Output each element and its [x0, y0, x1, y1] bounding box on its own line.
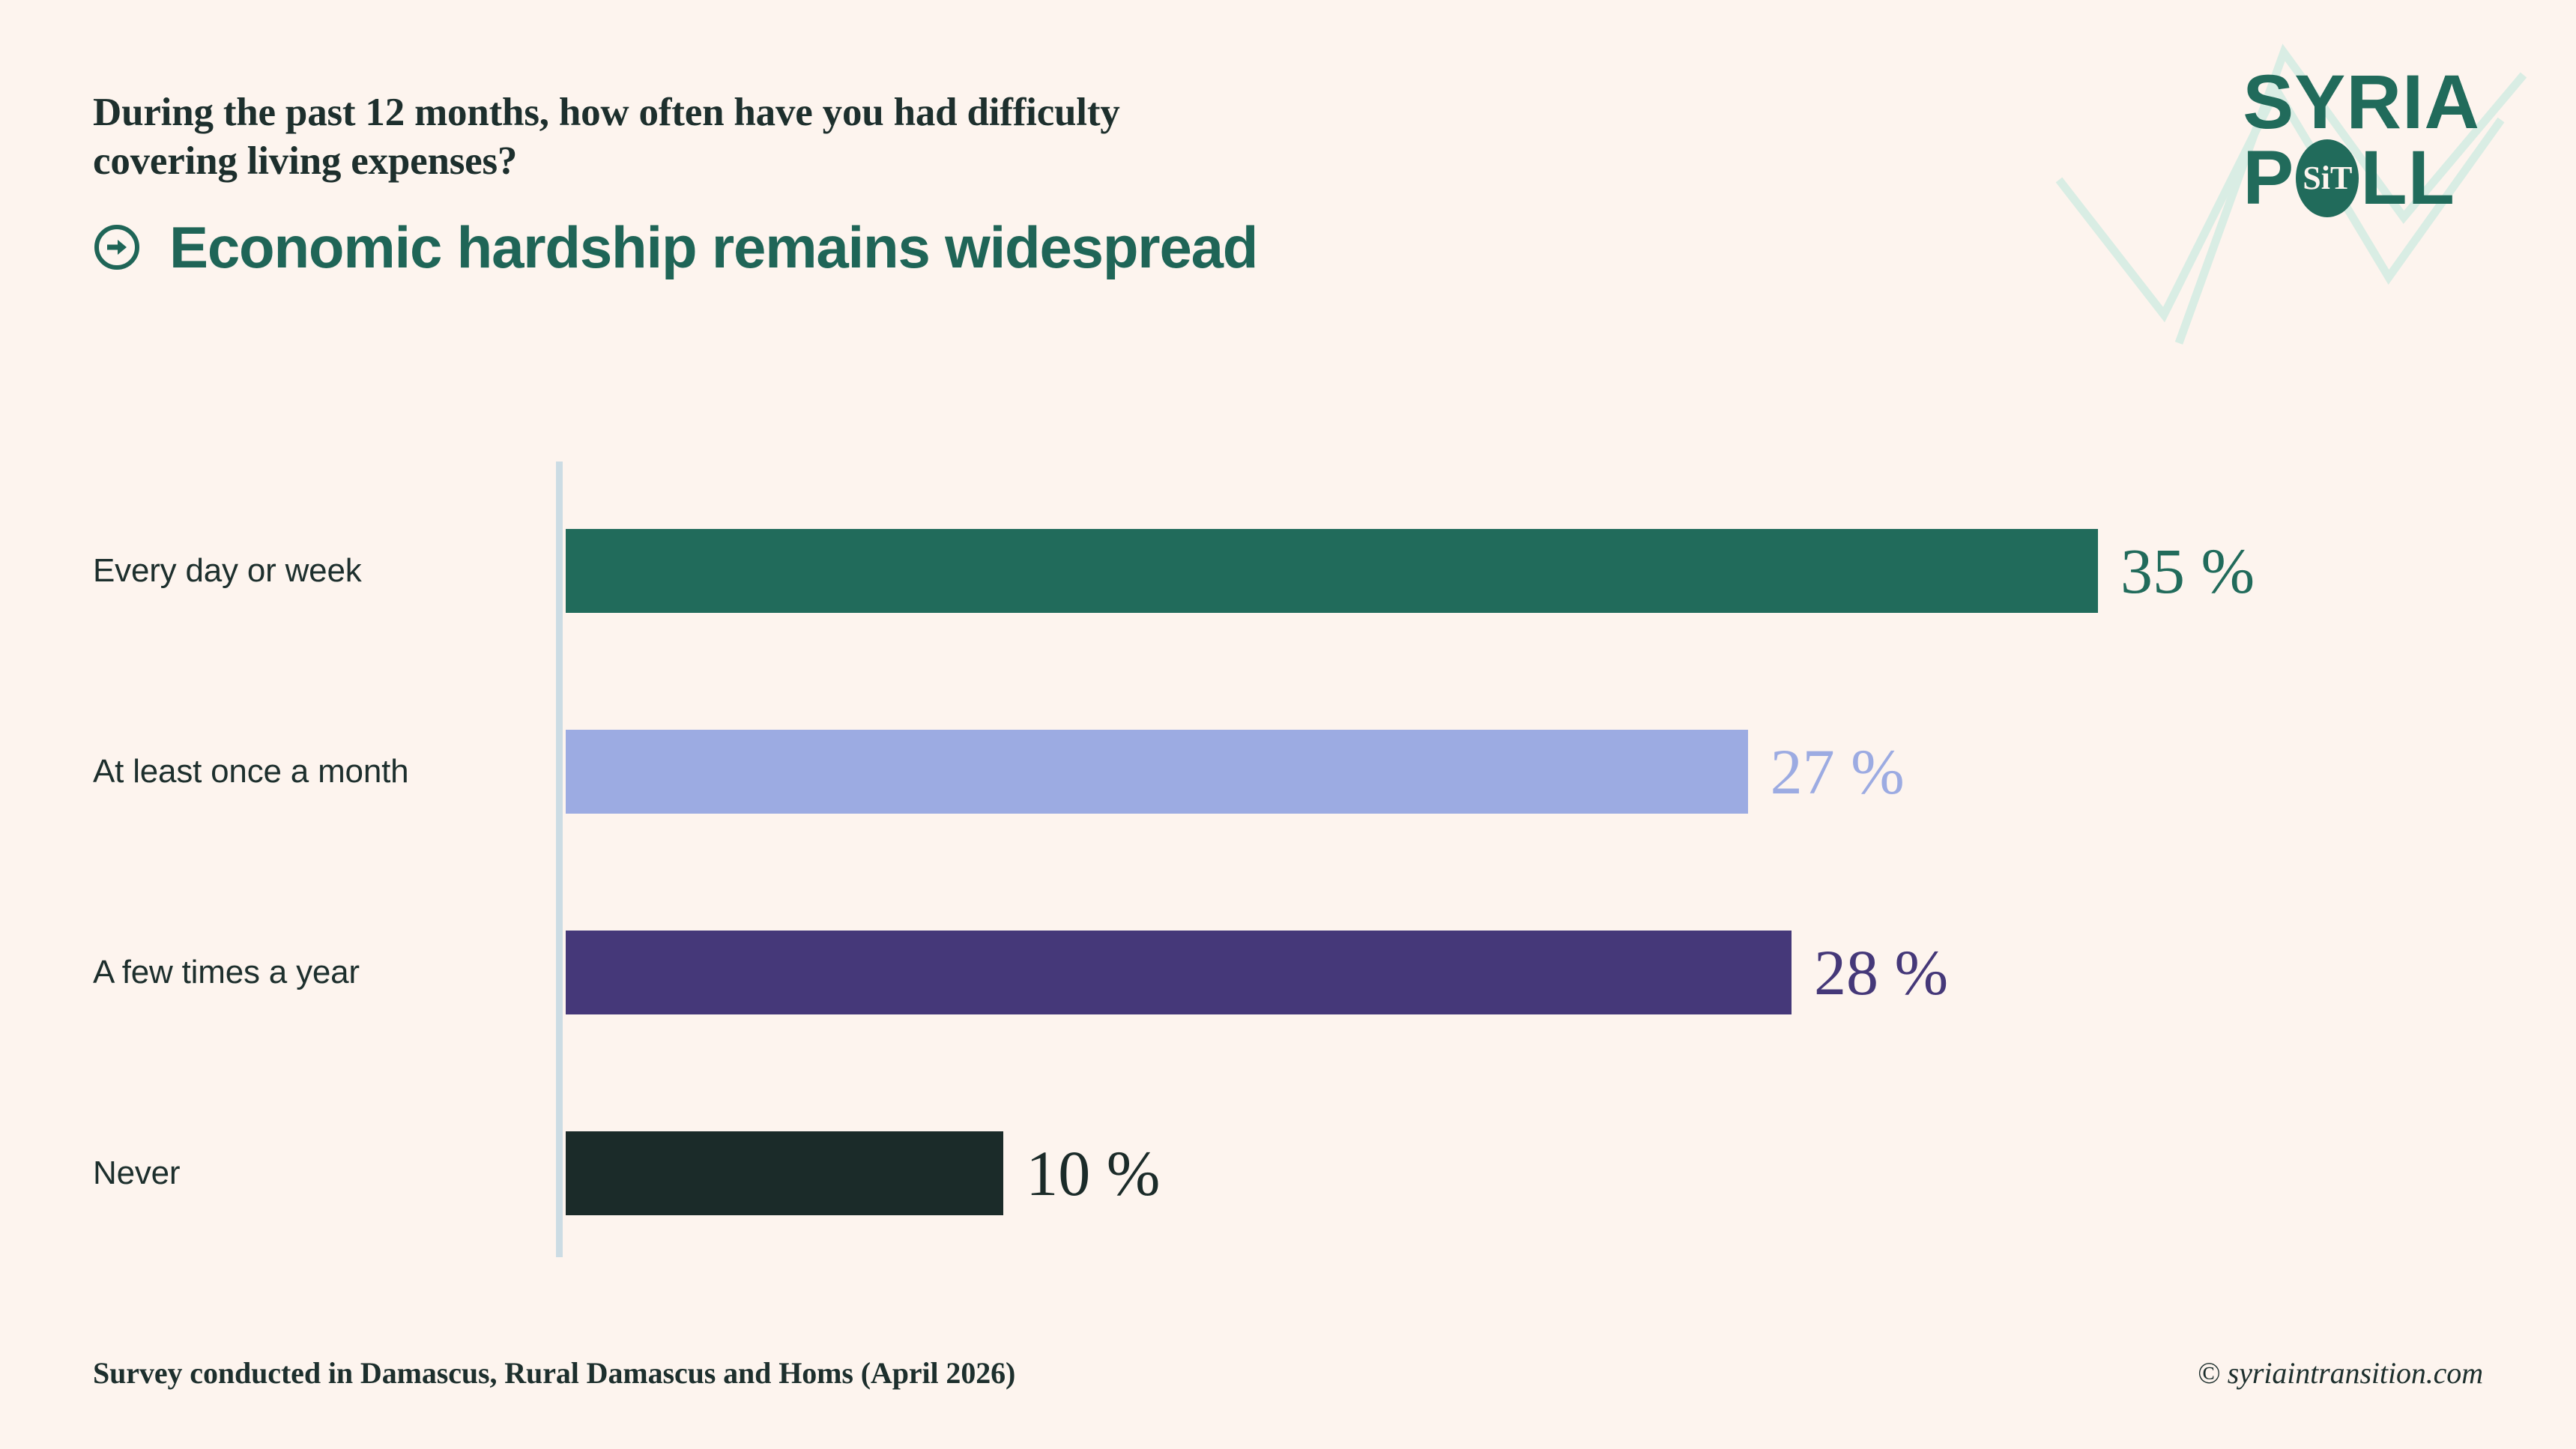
syria-poll-logo: SYRIA P SiT LL [2243, 66, 2480, 217]
bar-value-label: 27 % [1771, 739, 1905, 804]
header: During the past 12 months, how often hav… [93, 88, 1257, 276]
logo-poll-prefix: P [2243, 142, 2294, 215]
bar-value-label: 35 % [2120, 539, 2255, 603]
bar-row: Never 10 % [0, 1131, 2576, 1215]
bar-row: A few times a year 28 % [0, 931, 2576, 1014]
logo-poll-suffix: LL [2360, 142, 2455, 215]
question-line-1: During the past 12 months, how often hav… [93, 91, 1120, 134]
bar-rect [566, 1131, 1003, 1215]
sit-badge-label: SiT [2303, 162, 2352, 195]
bar-value-label: 10 % [1026, 1141, 1160, 1206]
logo-line-poll: P SiT LL [2243, 139, 2480, 217]
bar-category-label: A few times a year [93, 954, 557, 991]
bar-category-label: Every day or week [93, 552, 557, 590]
bar-value-label: 28 % [1814, 940, 1948, 1005]
footer-copyright: © syriaintransition.com [2198, 1355, 2483, 1391]
question-text: During the past 12 months, how often hav… [93, 88, 1257, 185]
page-title: Economic hardship remains widespread [169, 218, 1257, 276]
bar-category-label: Never [93, 1155, 557, 1192]
logo-line-syria: SYRIA [2243, 66, 2480, 139]
sit-badge-icon: SiT [2296, 139, 2359, 217]
bar-rect [566, 730, 1748, 814]
footer-source-note: Survey conducted in Damascus, Rural Dama… [93, 1355, 1015, 1391]
question-line-2: covering living expenses? [93, 139, 517, 183]
bar-row: At least once a month 27 % [0, 730, 2576, 814]
bar-category-label: At least once a month [93, 753, 557, 790]
headline-row: Economic hardship remains widespread [93, 218, 1257, 276]
circled-arrow-right-icon [93, 223, 141, 271]
bar-rect [566, 529, 2098, 613]
bar-row: Every day or week 35 % [0, 529, 2576, 613]
bar-rect [566, 931, 1792, 1014]
